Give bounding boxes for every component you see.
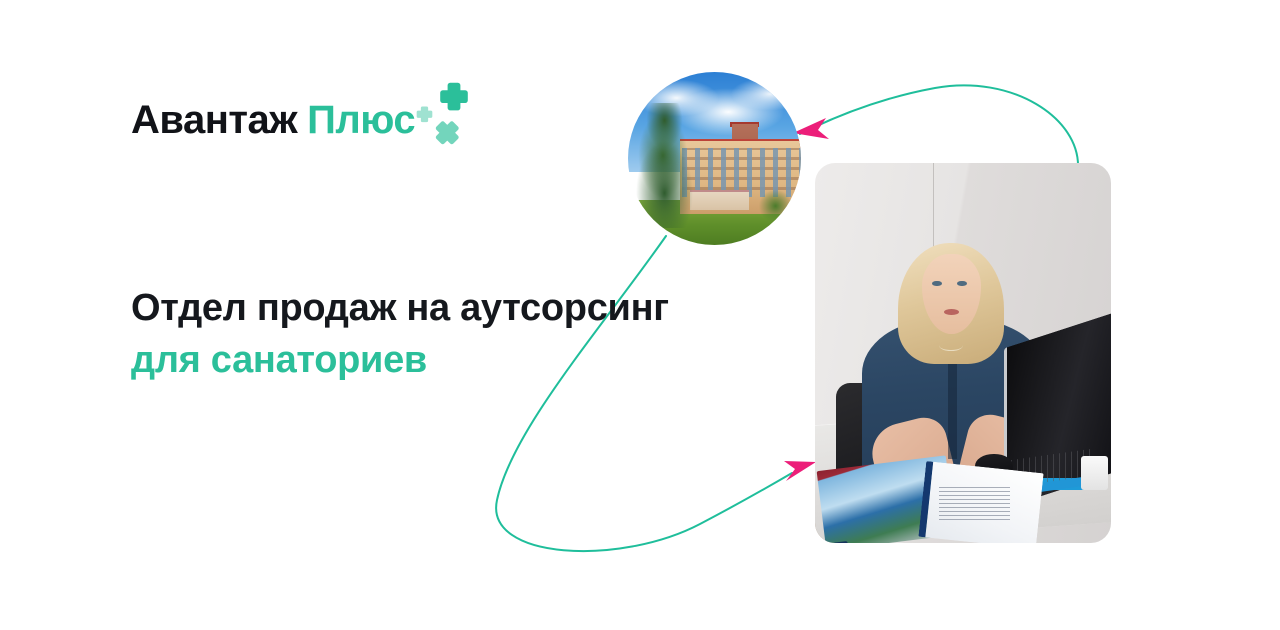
brand-logo[interactable]: Авантаж Плюс (131, 98, 477, 160)
brochure-logo (833, 542, 848, 543)
arrow-to-office (784, 461, 816, 481)
plus-small-icon (416, 106, 433, 123)
page-title: Отдел продаж на аутсорсинг для санаторие… (131, 282, 669, 386)
logo-mark-cluster (417, 98, 477, 160)
office-photo (815, 163, 1111, 543)
logo-word-primary: Авантаж (131, 98, 297, 142)
clover-mark-icon (434, 120, 460, 146)
person-necklace (939, 340, 963, 351)
photo-spruce-tree (628, 103, 704, 228)
headline-line-1: Отдел продаж на аутсорсинг (131, 282, 669, 334)
logo-word-secondary: Плюс (307, 98, 415, 142)
desk-cup (1081, 456, 1108, 490)
brochure-text-lines (939, 486, 1010, 520)
banner-root: Авантаж Плюс Отдел продаж на аутсорсинг … (0, 0, 1280, 630)
person-shirt-placket (948, 353, 957, 459)
plus-large-icon (439, 82, 469, 112)
circle-sanatorium-photo (628, 72, 801, 245)
curve-top-segment (800, 85, 1078, 168)
headline-line-2: для санаториев (131, 334, 669, 386)
photo-shrub (753, 179, 798, 224)
